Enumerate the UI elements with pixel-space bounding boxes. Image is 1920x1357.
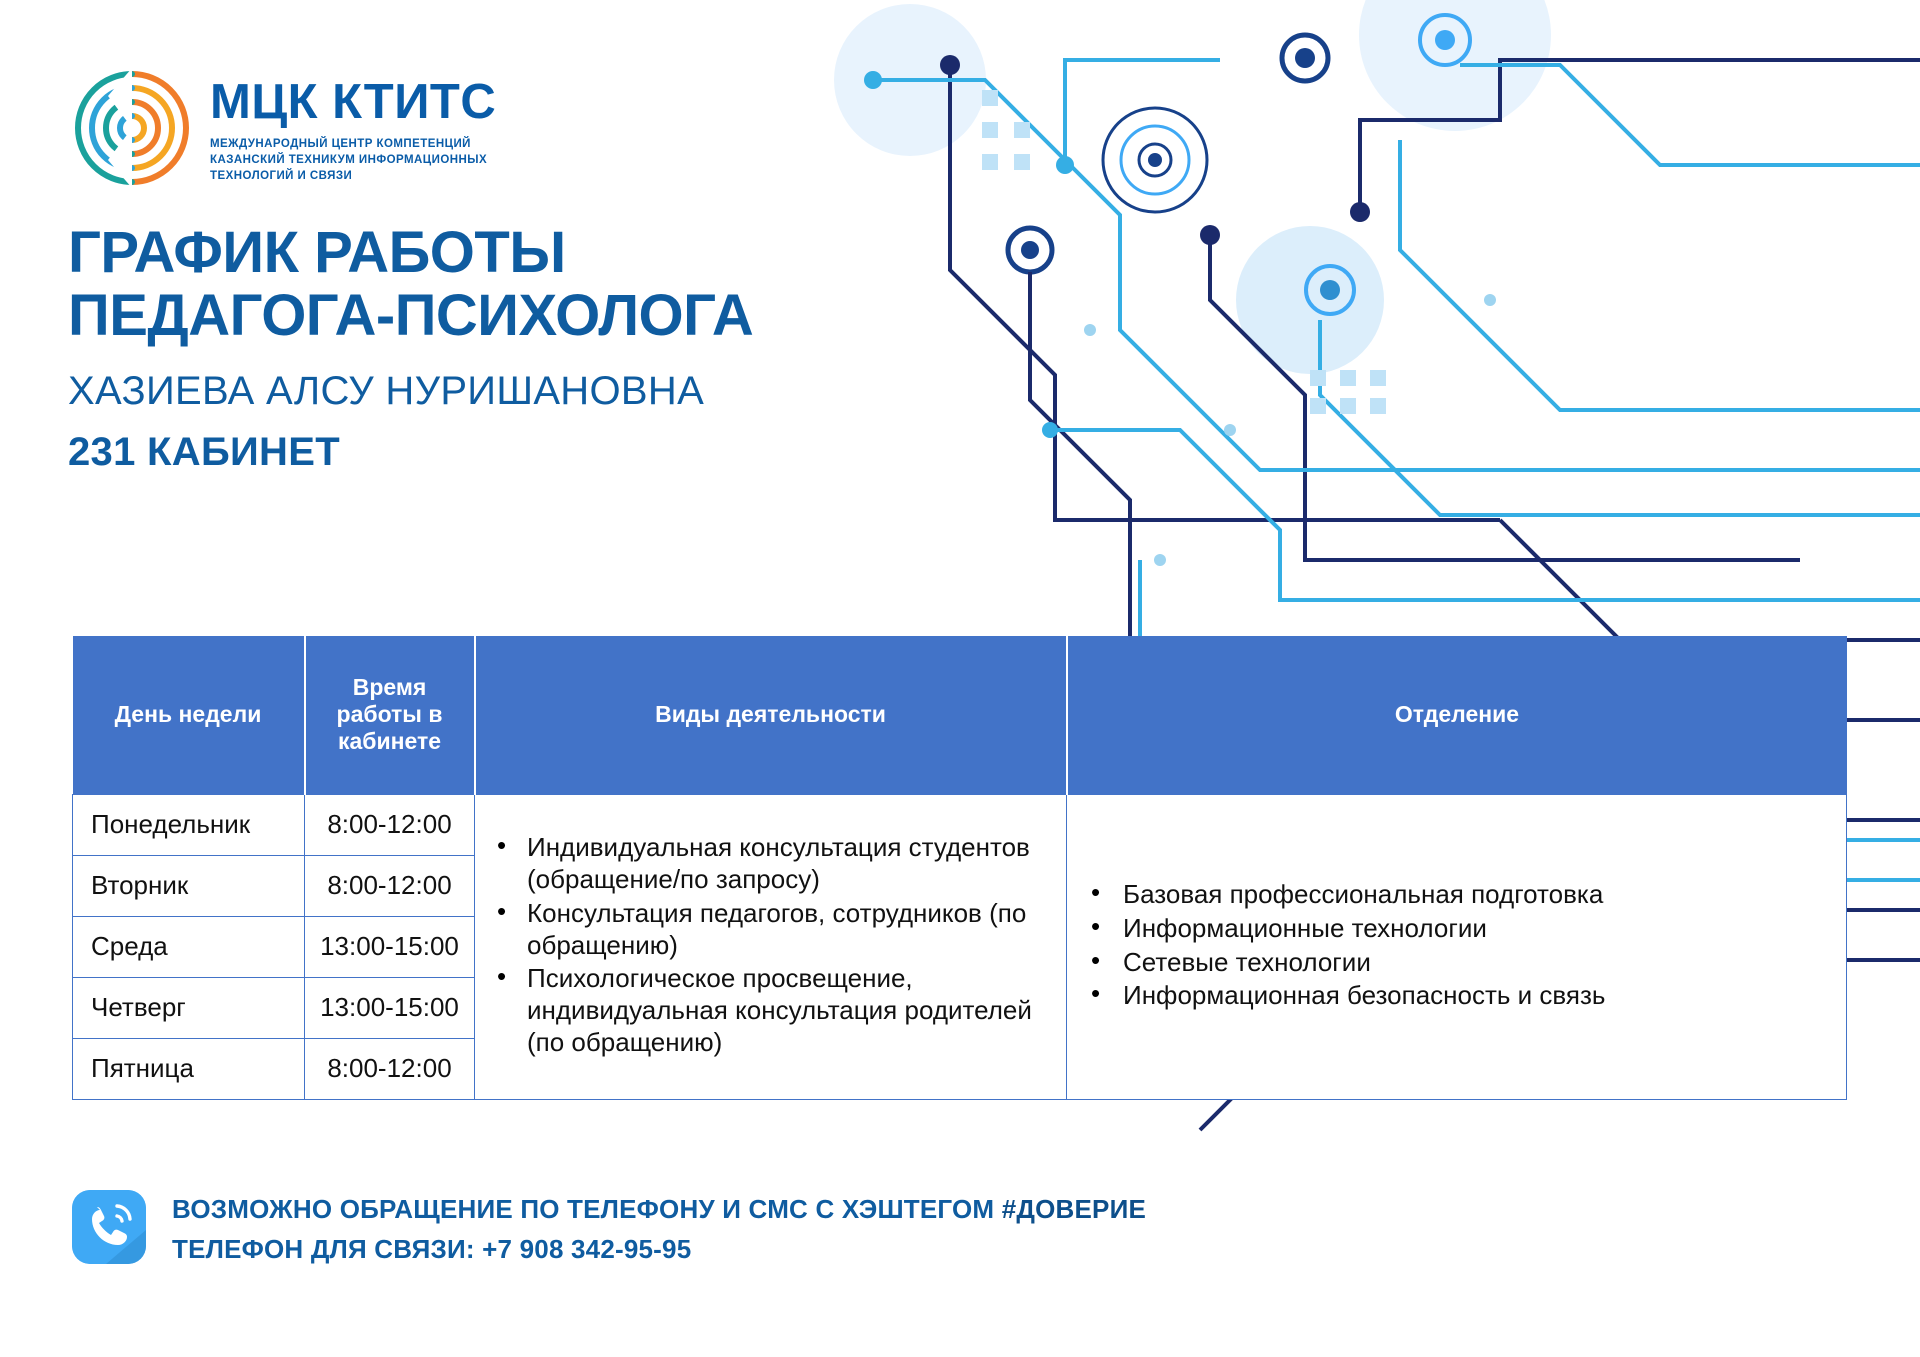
brand-logo: МЦК КТИТС МЕЖДУНАРОДНЫЙ ЦЕНТР КОМПЕТЕНЦИ… — [72, 68, 496, 188]
cell-time: 13:00-15:00 — [305, 977, 475, 1038]
column-header-department: Отделение — [1067, 636, 1847, 794]
psychologist-name: ХАЗИЕВА АЛСУ НУРИШАНОВНА — [68, 369, 1068, 414]
schedule-table-wrapper: День недели Время работы в кабинете Виды… — [72, 636, 1846, 1100]
footer-phone-line: ТЕЛЕФОН ДЛЯ СВЯЗИ: +7 908 342-95-95 — [172, 1234, 1146, 1265]
cell-day: Пятница — [73, 1038, 305, 1099]
footer-line1-prefix: ВОЗМОЖНО ОБРАЩЕНИЕ ПО ТЕЛЕФОНУ И СМС С Х… — [172, 1194, 1002, 1224]
footer-line-hashtag: ВОЗМОЖНО ОБРАЩЕНИЕ ПО ТЕЛЕФОНУ И СМС С Х… — [172, 1194, 1146, 1225]
mck-ktits-logo-icon — [72, 68, 192, 188]
list-item: Сетевые технологии — [1075, 947, 1828, 979]
cell-day: Четверг — [73, 977, 305, 1038]
cell-day: Вторник — [73, 855, 305, 916]
room-number: 231 КАБИНЕТ — [68, 430, 1068, 475]
cell-departments: Базовая профессиональная подготовка Инфо… — [1067, 794, 1847, 1099]
cell-time: 8:00-12:00 — [305, 794, 475, 855]
column-header-activities: Виды деятельности — [475, 636, 1067, 794]
column-header-time: Время работы в кабинете — [305, 636, 475, 794]
page-title-line2: ПЕДАГОГА-ПСИХОЛОГА — [68, 285, 1068, 348]
page-title-line1: ГРАФИК РАБОТЫ — [68, 222, 1068, 285]
activities-list: Индивидуальная консультация студентов (о… — [483, 832, 1048, 1058]
list-item: Информационные технологии — [1075, 913, 1828, 945]
table-header-row: День недели Время работы в кабинете Виды… — [73, 636, 1847, 794]
list-item: Информационная безопасность и связь — [1075, 980, 1828, 1012]
cell-time: 13:00-15:00 — [305, 916, 475, 977]
list-item: Психологическое просвещение, индивидуаль… — [483, 963, 1048, 1058]
logo-subtitle: МЕЖДУНАРОДНЫЙ ЦЕНТР КОМПЕТЕНЦИЙ КАЗАНСКИ… — [210, 136, 496, 185]
cell-day: Среда — [73, 916, 305, 977]
cell-time: 8:00-12:00 — [305, 1038, 475, 1099]
table-row: Понедельник 8:00-12:00 Индивидуальная ко… — [73, 794, 1847, 855]
list-item: Индивидуальная консультация студентов (о… — [483, 832, 1048, 895]
contact-footer: ВОЗМОЖНО ОБРАЩЕНИЕ ПО ТЕЛЕФОНУ И СМС С Х… — [72, 1190, 1146, 1265]
cell-time: 8:00-12:00 — [305, 855, 475, 916]
phone-icon — [72, 1190, 146, 1264]
list-item: Базовая профессиональная подготовка — [1075, 879, 1828, 911]
schedule-table: День недели Время работы в кабинете Виды… — [72, 636, 1847, 1100]
column-header-day: День недели — [73, 636, 305, 794]
list-item: Консультация педагогов, сотрудников (по … — [483, 898, 1048, 961]
departments-list: Базовая профессиональная подготовка Инфо… — [1075, 879, 1828, 1012]
logo-title: МЦК КТИТС — [210, 78, 496, 127]
cell-activities: Индивидуальная консультация студентов (о… — [475, 794, 1067, 1099]
footer-hashtag: #ДОВЕРИЕ — [1002, 1194, 1146, 1224]
cell-day: Понедельник — [73, 794, 305, 855]
poster-canvas: МЦК КТИТС МЕЖДУНАРОДНЫЙ ЦЕНТР КОМПЕТЕНЦИ… — [0, 0, 1920, 1357]
page-heading: ГРАФИК РАБОТЫ ПЕДАГОГА-ПСИХОЛОГА ХАЗИЕВА… — [68, 222, 1068, 475]
